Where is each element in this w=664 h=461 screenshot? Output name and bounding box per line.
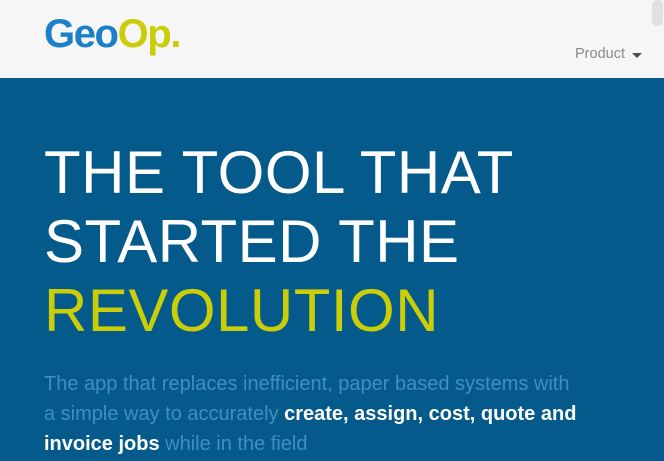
- hero-headline: THE TOOL THAT STARTED THE REVOLUTION: [44, 138, 620, 345]
- headline-line-1: THE TOOL THAT: [44, 138, 620, 207]
- nav-item-product[interactable]: Product: [575, 47, 642, 62]
- headline-line-2: STARTED THE: [44, 207, 620, 276]
- page-scrollbar[interactable]: [650, 0, 664, 461]
- scrollbar-thumb[interactable]: [652, 0, 663, 26]
- hero-section: THE TOOL THAT STARTED THE REVOLUTION The…: [0, 78, 664, 461]
- headline-line-3-accent: REVOLUTION: [44, 276, 620, 345]
- site-logo[interactable]: GeoOp.: [44, 14, 180, 54]
- hero-subtitle: The app that replaces inefficient, paper…: [44, 369, 579, 459]
- hero-subtitle-part-2: while in the field: [160, 433, 308, 455]
- logo-text-geo: Geo: [44, 12, 118, 56]
- site-header: GeoOp. Product: [0, 0, 664, 78]
- main-navigation: Product: [575, 44, 642, 64]
- nav-item-product-label: Product: [575, 47, 625, 62]
- chevron-down-icon: [632, 53, 642, 58]
- logo-text-op: Op.: [118, 12, 180, 56]
